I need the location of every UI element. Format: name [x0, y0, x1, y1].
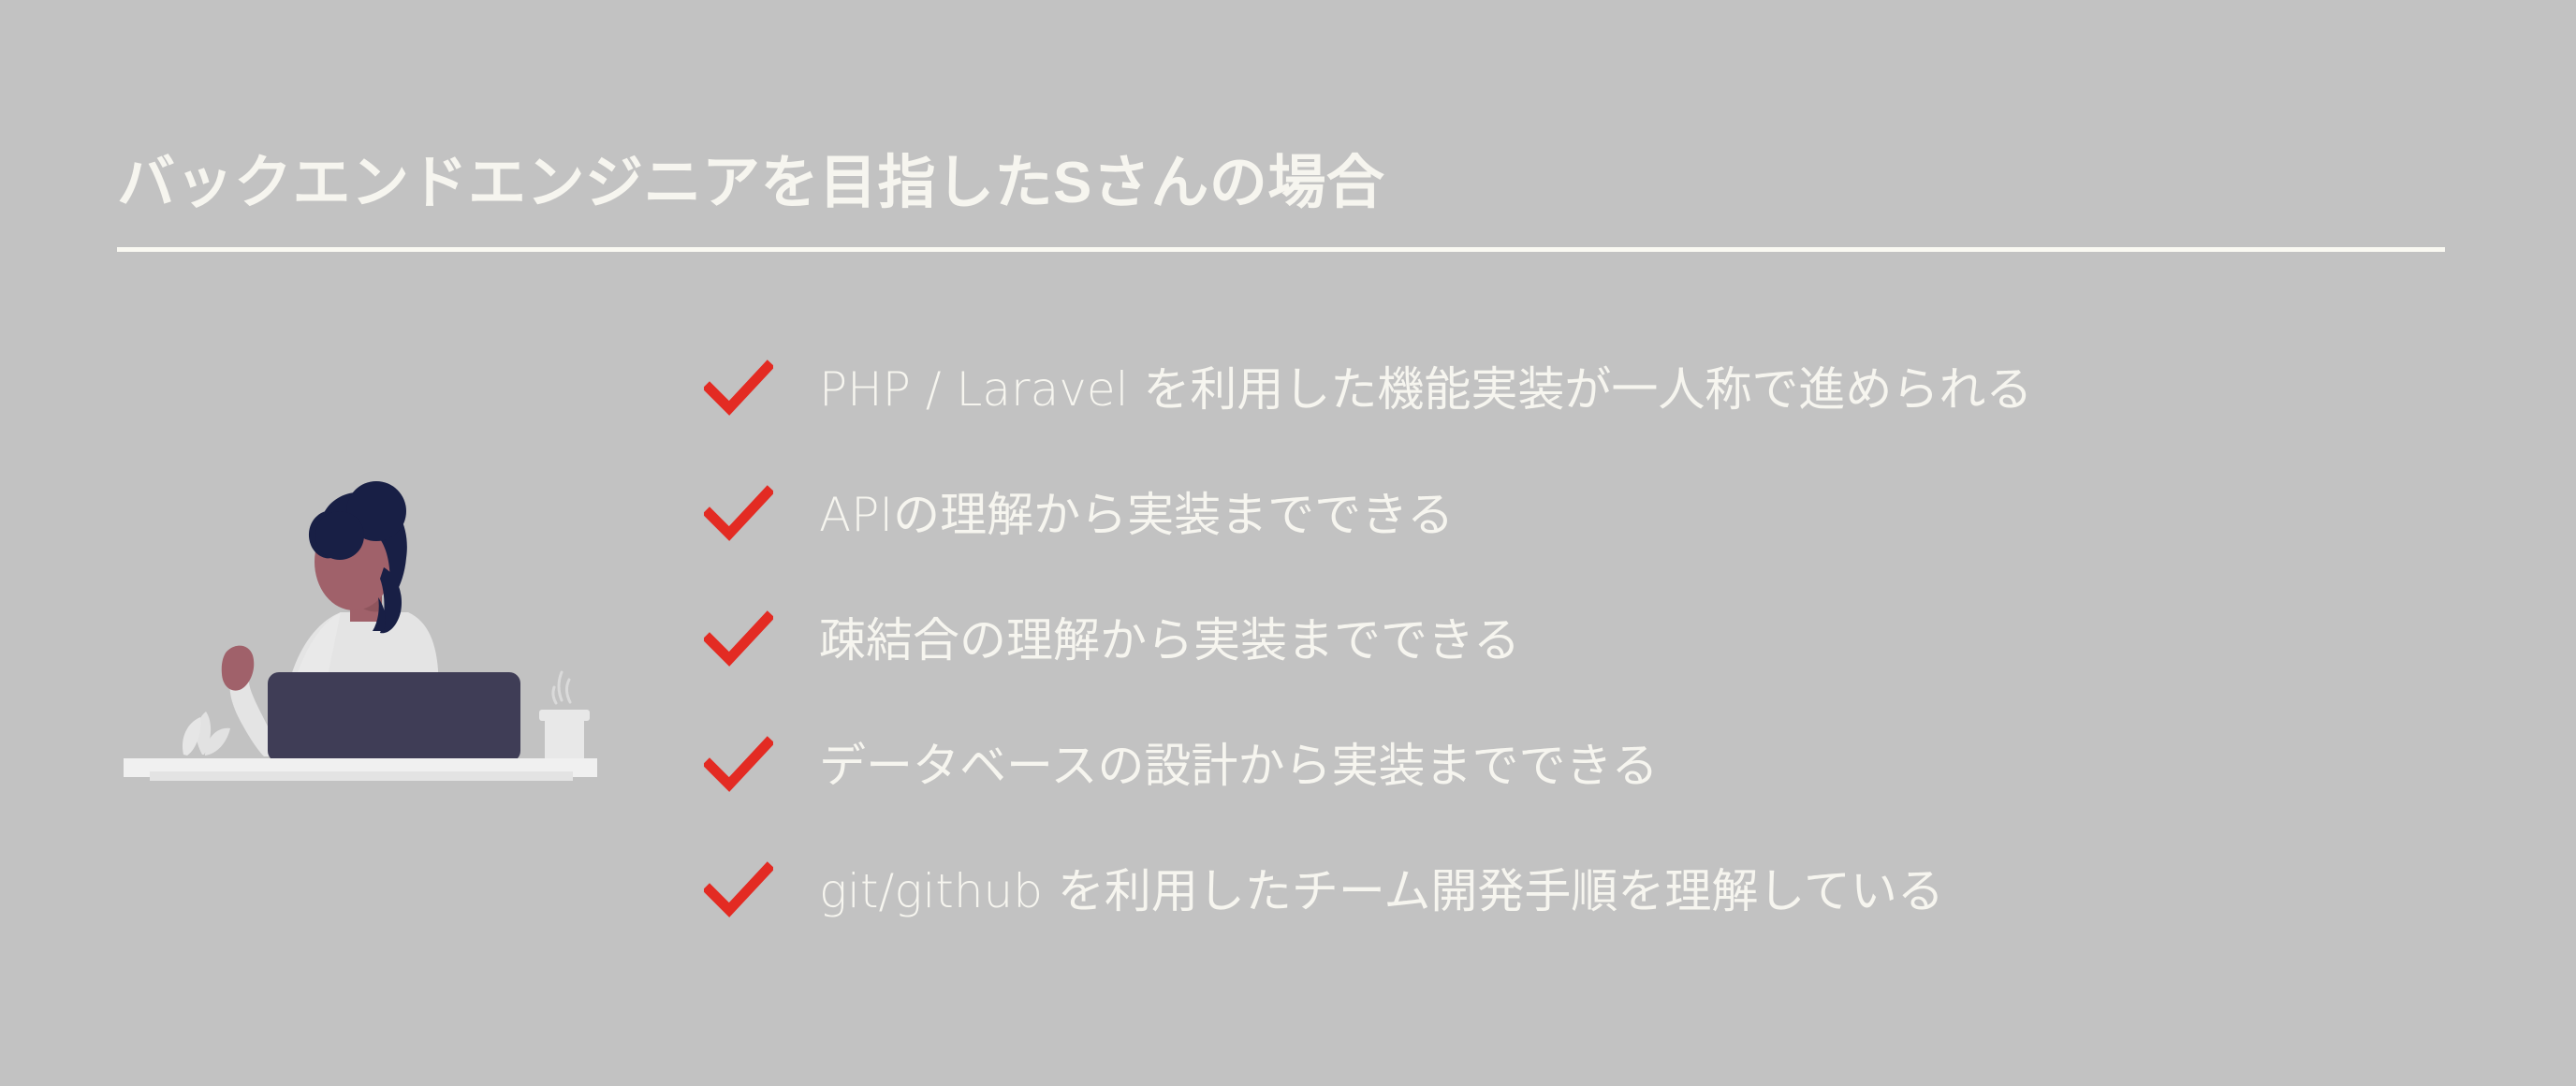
- heading-block: バックエンドエンジニアを目指したSさんの場合: [117, 154, 2445, 252]
- check-mark-icon: [704, 731, 773, 800]
- list-item-label: 疎結合の理解から実装までできる: [819, 617, 1520, 664]
- checklist: PHP / Laravel を利用した機能実装が一人称で進められる APIの理解…: [704, 354, 2032, 927]
- check-mark-icon: [704, 480, 773, 550]
- list-item: 疎結合の理解から実装までできる: [704, 605, 2032, 676]
- woman-working-at-desk-illustration: [112, 457, 608, 796]
- check-mark-icon: [704, 606, 773, 675]
- list-item: PHP / Laravel を利用した機能実装が一人称で進められる: [704, 354, 2032, 425]
- list-item-label: git/github を利用したチーム開発手順を理解している: [819, 868, 1944, 915]
- page-title: バックエンドエンジニアを目指したSさんの場合: [117, 154, 2445, 213]
- list-item-label: APIの理解から実装までできる: [819, 492, 1454, 538]
- list-item: APIの理解から実装までできる: [704, 479, 2032, 550]
- check-mark-icon: [704, 857, 773, 926]
- coffee-cup-icon: [539, 672, 590, 762]
- list-item-label: PHP / Laravel を利用した機能実装が一人称で進められる: [819, 366, 2032, 413]
- list-item: git/github を利用したチーム開発手順を理解している: [704, 856, 2032, 927]
- check-mark-icon: [704, 355, 773, 424]
- list-item-label: データベースの設計から実装までできる: [819, 742, 1659, 789]
- title-divider: [117, 247, 2445, 252]
- slide-canvas: バックエンドエンジニアを目指したSさんの場合: [0, 0, 2576, 1086]
- list-item: データベースの設計から実装までできる: [704, 730, 2032, 801]
- plant-icon: [183, 712, 230, 756]
